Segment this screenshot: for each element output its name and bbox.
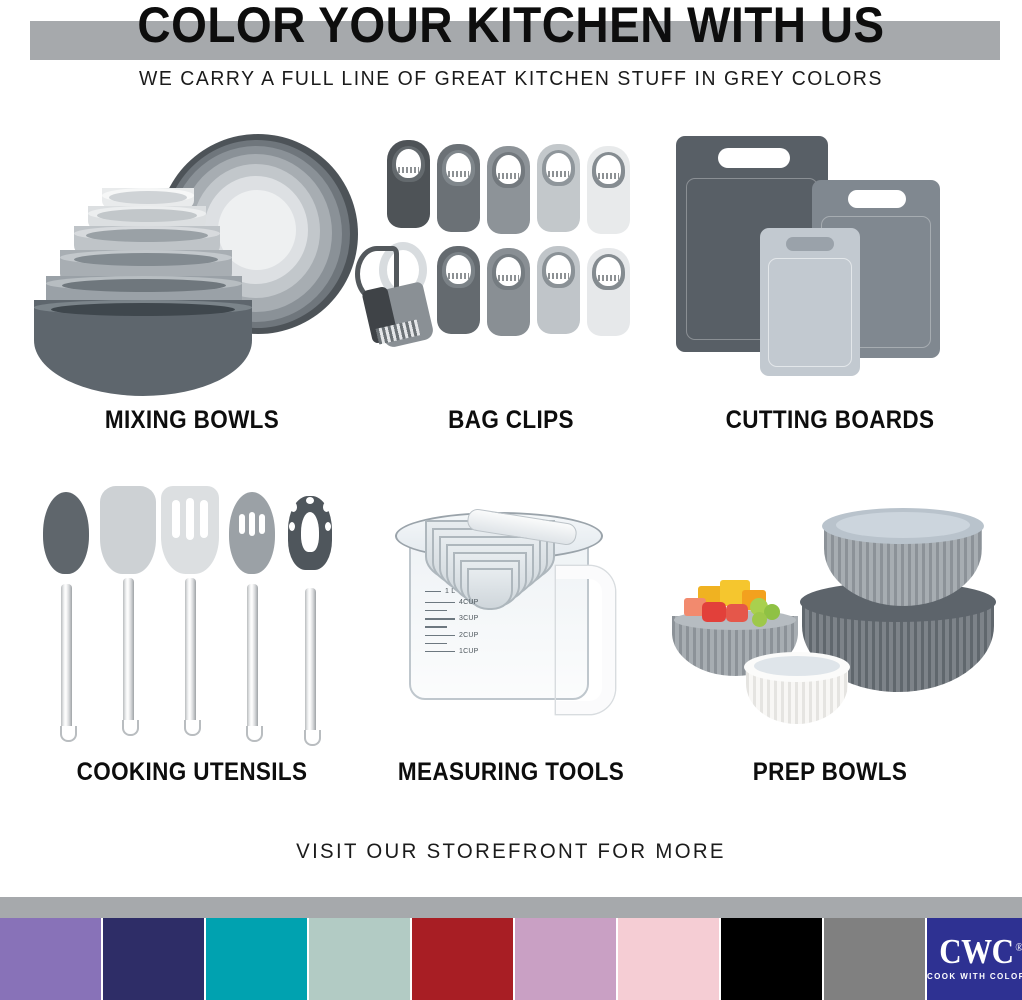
color-swatch-teal bbox=[206, 918, 307, 1000]
color-swatch-bar: CWC® COOK WITH COLOR bbox=[0, 918, 1022, 1000]
brand-mark-text: CWC bbox=[939, 932, 1013, 971]
color-swatch-pink bbox=[618, 918, 719, 1000]
measure-mark: 1 L bbox=[445, 588, 455, 595]
utensil-slotted-turner bbox=[160, 486, 220, 736]
product-cell-measuring-tools[interactable]: 1 L 4CUP 3CUP 2CUP 1CUP MEASURING TOOLS bbox=[341, 470, 681, 810]
measure-mark: 2CUP bbox=[459, 632, 478, 639]
product-label: BAG CLIPS bbox=[358, 406, 664, 435]
page-subtitle: WE CARRY A FULL LINE OF GREAT KITCHEN ST… bbox=[15, 68, 1006, 91]
bag-clips-photo bbox=[341, 118, 681, 400]
brand-tagline: COOK WITH COLOR bbox=[927, 972, 1022, 981]
measuring-tools-photo: 1 L 4CUP 3CUP 2CUP 1CUP bbox=[341, 470, 681, 752]
color-swatch-navy bbox=[103, 918, 204, 1000]
color-swatch-seafoam bbox=[309, 918, 410, 1000]
utensil-slotted-spoon bbox=[222, 492, 282, 742]
cooking-utensils-photo bbox=[22, 470, 362, 752]
product-label: MEASURING TOOLS bbox=[358, 758, 664, 787]
infographic-canvas: COLOR YOUR KITCHEN WITH US WE CARRY A FU… bbox=[0, 0, 1022, 1000]
product-cell-bag-clips[interactable]: BAG CLIPS bbox=[341, 118, 681, 458]
product-grid: MIXING BOWLS bbox=[0, 118, 1022, 828]
brand-mark: CWC® bbox=[939, 935, 1013, 969]
product-cell-cutting-boards[interactable]: CUTTING BOARDS bbox=[660, 118, 1000, 458]
page-title: COLOR YOUR KITCHEN WITH US bbox=[41, 0, 981, 53]
brand-logo-panel[interactable]: CWC® COOK WITH COLOR bbox=[927, 918, 1022, 1000]
color-swatch-grey bbox=[824, 918, 925, 1000]
utensil-pasta-server bbox=[280, 496, 340, 746]
color-swatch-black bbox=[721, 918, 822, 1000]
utensil-spatula bbox=[98, 486, 158, 736]
measure-mark: 1CUP bbox=[459, 648, 478, 655]
product-cell-cooking-utensils[interactable]: COOKING UTENSILS bbox=[22, 470, 362, 810]
product-cell-mixing-bowls[interactable]: MIXING BOWLS bbox=[22, 118, 362, 458]
measure-mark: 3CUP bbox=[459, 615, 478, 622]
utensil-spoon bbox=[36, 492, 96, 742]
measurement-graduations: 1 L 4CUP 3CUP 2CUP 1CUP bbox=[425, 588, 529, 659]
open-clip bbox=[349, 240, 441, 350]
color-swatch-purple bbox=[0, 918, 101, 1000]
product-cell-prep-bowls[interactable]: PREP BOWLS bbox=[660, 470, 1000, 810]
footer-grey-bar bbox=[0, 897, 1022, 918]
cutting-boards-photo bbox=[660, 118, 1000, 400]
header: COLOR YOUR KITCHEN WITH US WE CARRY A FU… bbox=[0, 0, 1022, 110]
product-label: PREP BOWLS bbox=[677, 758, 983, 787]
color-swatch-red bbox=[412, 918, 513, 1000]
registered-trademark-icon: ® bbox=[1015, 932, 1022, 966]
prep-bowls-photo bbox=[660, 470, 1000, 752]
color-swatch-orchid bbox=[515, 918, 616, 1000]
storefront-cta-text[interactable]: VISIT OUR STOREFRONT FOR MORE bbox=[15, 840, 1006, 864]
cutting-board-small bbox=[760, 228, 860, 376]
product-label: MIXING BOWLS bbox=[39, 406, 345, 435]
product-label: COOKING UTENSILS bbox=[39, 758, 345, 787]
product-label: CUTTING BOARDS bbox=[677, 406, 983, 435]
measure-mark: 4CUP bbox=[459, 599, 478, 606]
mixing-bowls-photo bbox=[22, 118, 362, 400]
